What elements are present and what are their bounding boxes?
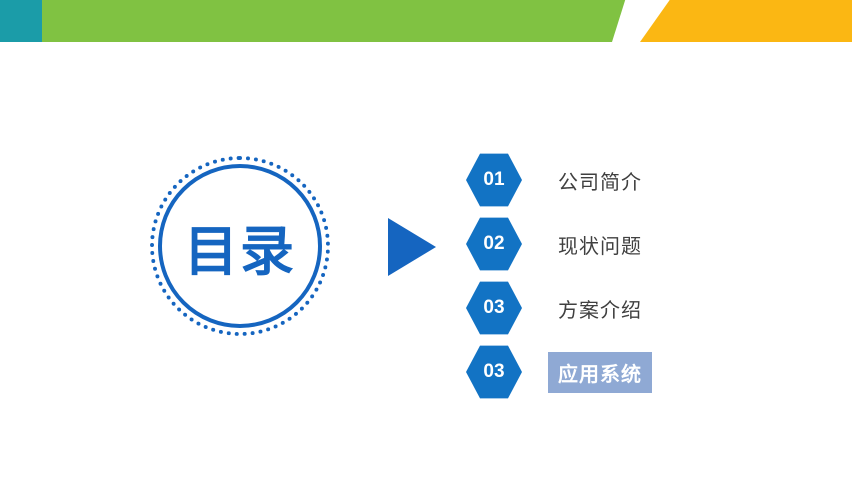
topbar-teal-block bbox=[0, 0, 42, 42]
item-label: 公司简介 bbox=[548, 160, 652, 201]
list-item[interactable]: 01 公司简介 bbox=[466, 148, 766, 212]
play-triangle-icon bbox=[388, 218, 436, 276]
item-label: 现状问题 bbox=[548, 224, 652, 265]
agenda-circle: 目录 bbox=[150, 156, 330, 336]
item-number: 03 bbox=[483, 361, 504, 383]
hexagon-badge: 03 bbox=[466, 276, 522, 340]
agenda-list: 01 公司简介 02 现状问题 03 方案介绍 03 应用系统 bbox=[466, 148, 766, 404]
item-number: 01 bbox=[483, 169, 504, 191]
hexagon-badge: 01 bbox=[466, 148, 522, 212]
item-label-highlighted: 应用系统 bbox=[548, 352, 652, 393]
list-item[interactable]: 03 应用系统 bbox=[466, 340, 766, 404]
item-number: 02 bbox=[483, 233, 504, 255]
hexagon-badge: 03 bbox=[466, 340, 522, 404]
hexagon-badge: 02 bbox=[466, 212, 522, 276]
page-title: 目录 bbox=[150, 156, 330, 336]
list-item[interactable]: 03 方案介绍 bbox=[466, 276, 766, 340]
item-label: 方案介绍 bbox=[548, 288, 652, 329]
top-decorative-bar bbox=[0, 0, 852, 42]
item-number: 03 bbox=[483, 297, 504, 319]
topbar-orange-block bbox=[640, 0, 852, 42]
list-item[interactable]: 02 现状问题 bbox=[466, 212, 766, 276]
topbar-green-block bbox=[42, 0, 622, 42]
